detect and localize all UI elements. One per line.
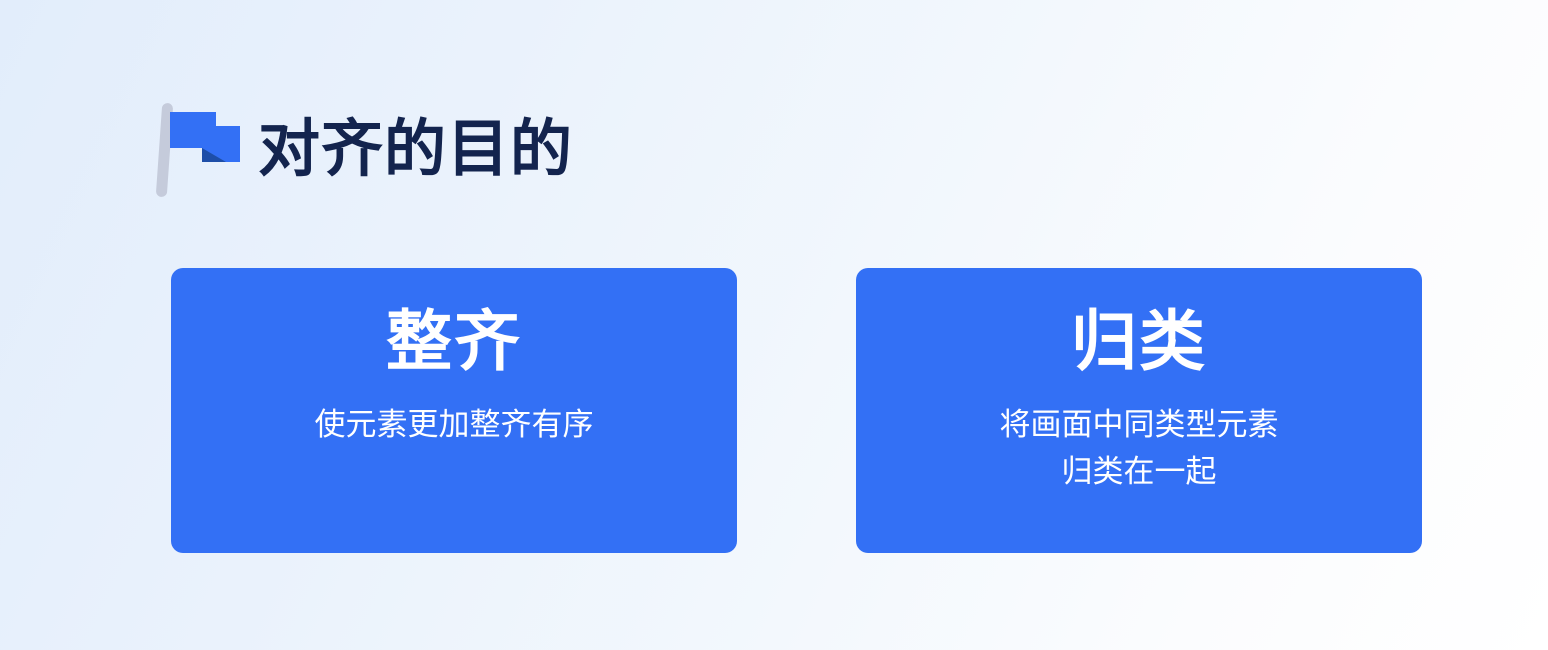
card-group: 整齐 使元素更加整齐有序 归类 将画面中同类型元素 归类在一起 [171, 268, 1422, 553]
card-title: 归类 [1071, 306, 1207, 377]
slide-header: 对齐的目的 [156, 98, 573, 202]
card-description: 将画面中同类型元素 归类在一起 [1000, 401, 1279, 495]
card-guilei[interactable]: 归类 将画面中同类型元素 归类在一起 [856, 268, 1422, 553]
card-zhengqi[interactable]: 整齐 使元素更加整齐有序 [171, 268, 737, 553]
card-title: 整齐 [386, 306, 522, 377]
card-description: 使元素更加整齐有序 [315, 401, 594, 448]
flag-icon [156, 100, 242, 200]
slide-canvas: 对齐的目的 整齐 使元素更加整齐有序 归类 将画面中同类型元素 归类在一起 [0, 0, 1548, 650]
page-title: 对齐的目的 [258, 119, 573, 181]
